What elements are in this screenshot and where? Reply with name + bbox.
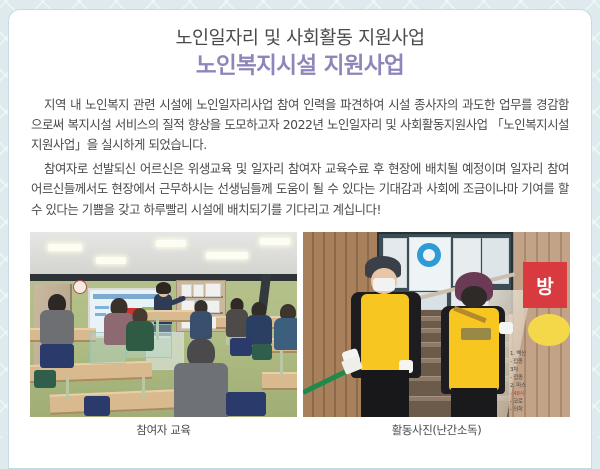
table-leg [142, 377, 145, 397]
wall-sign-banner: 방 [523, 262, 567, 308]
worker-vest [449, 308, 499, 390]
instructor-hair [156, 282, 171, 294]
sign-line: 3차 [510, 366, 568, 374]
participant-body [174, 363, 228, 417]
wall-sign-circle [528, 314, 570, 346]
poster-graphic [423, 249, 435, 261]
classroom-chair [230, 338, 252, 356]
sign-line: 2. 마스 [510, 382, 568, 390]
wall-sign-text: 1. 백신 - 접종 3차 - 접종 2. 마스 - 48시 - 코로 - 의학 [510, 350, 568, 414]
shelf-item [193, 284, 204, 297]
sign-line: 1. 백신 [510, 350, 568, 358]
photo-activity: 방 1. 백신 - 접종 3차 - 접종 2. 마스 - 48시 - 코로 - … [303, 232, 570, 417]
participant-body [126, 321, 154, 351]
paragraph-2: 참여자로 선발되신 어르신은 위생교육 및 일자리 참여자 교육수료 후 현장에… [31, 159, 569, 220]
photo-caption-activity: 활동사진(난간소독) [303, 422, 570, 438]
ceiling-light [96, 257, 126, 264]
participant [126, 308, 154, 350]
participant-body [226, 309, 248, 337]
participant [174, 338, 228, 416]
classroom-chair [84, 396, 110, 416]
participant-body [190, 311, 212, 339]
ceiling-light [156, 240, 186, 247]
sign-line: - 의학 [510, 406, 568, 414]
ceiling-light [48, 244, 82, 251]
photo-education [30, 232, 297, 417]
classroom-chair [226, 392, 266, 416]
photo-caption-education: 참여자 교육 [30, 422, 297, 438]
body-text: 지역 내 노인복지 관련 시설에 노인일자리사업 참여 인력을 파견하여 시설 … [31, 95, 569, 220]
table-leg [66, 377, 69, 399]
classroom-chair [252, 344, 272, 360]
ceiling-beam [30, 274, 297, 281]
content-card: 노인일자리 및 사회활동 지원사업 노인복지시설 지원사업 지역 내 노인복지 … [8, 9, 592, 469]
page-title-main: 노인일자리 및 사회활동 지원사업 [9, 27, 591, 51]
page-title-sub: 노인복지시설 지원사업 [9, 52, 591, 81]
worker-trousers [361, 370, 409, 417]
participant [40, 294, 74, 342]
worker-glove [499, 322, 513, 334]
participant-body [274, 318, 297, 350]
face-mask [373, 278, 395, 291]
worker-trousers [451, 388, 497, 417]
sign-line: - 코로 [510, 398, 568, 406]
ceiling-light [260, 238, 290, 245]
participant [226, 298, 248, 336]
participant [190, 300, 212, 338]
shelf-item [205, 283, 221, 297]
worker-head [461, 286, 487, 308]
classroom-ceiling [30, 232, 297, 278]
vest-logo [461, 328, 491, 340]
sign-line: - 접종 [510, 358, 568, 366]
participant [274, 304, 297, 348]
photo-cell-activity: 방 1. 백신 - 접종 3차 - 접종 2. 마스 - 48시 - 코로 - … [303, 232, 570, 438]
photo-row: 참여자 교육 [30, 232, 570, 438]
sign-line: - 접종 [510, 374, 568, 382]
title-block: 노인일자리 및 사회활동 지원사업 노인복지시설 지원사업 [9, 10, 591, 82]
wall-clock [73, 280, 87, 294]
photo-cell-education: 참여자 교육 [30, 232, 297, 438]
sign-line-highlight: - 48시 [510, 390, 568, 398]
classroom-chair [34, 370, 56, 388]
classroom-chair [40, 344, 74, 368]
ceiling-light [206, 252, 248, 259]
paragraph-1: 지역 내 노인복지 관련 시설에 노인일자리사업 참여 인력을 파견하여 시설 … [31, 95, 569, 156]
participant-body [40, 310, 74, 344]
table-leg [280, 349, 283, 375]
